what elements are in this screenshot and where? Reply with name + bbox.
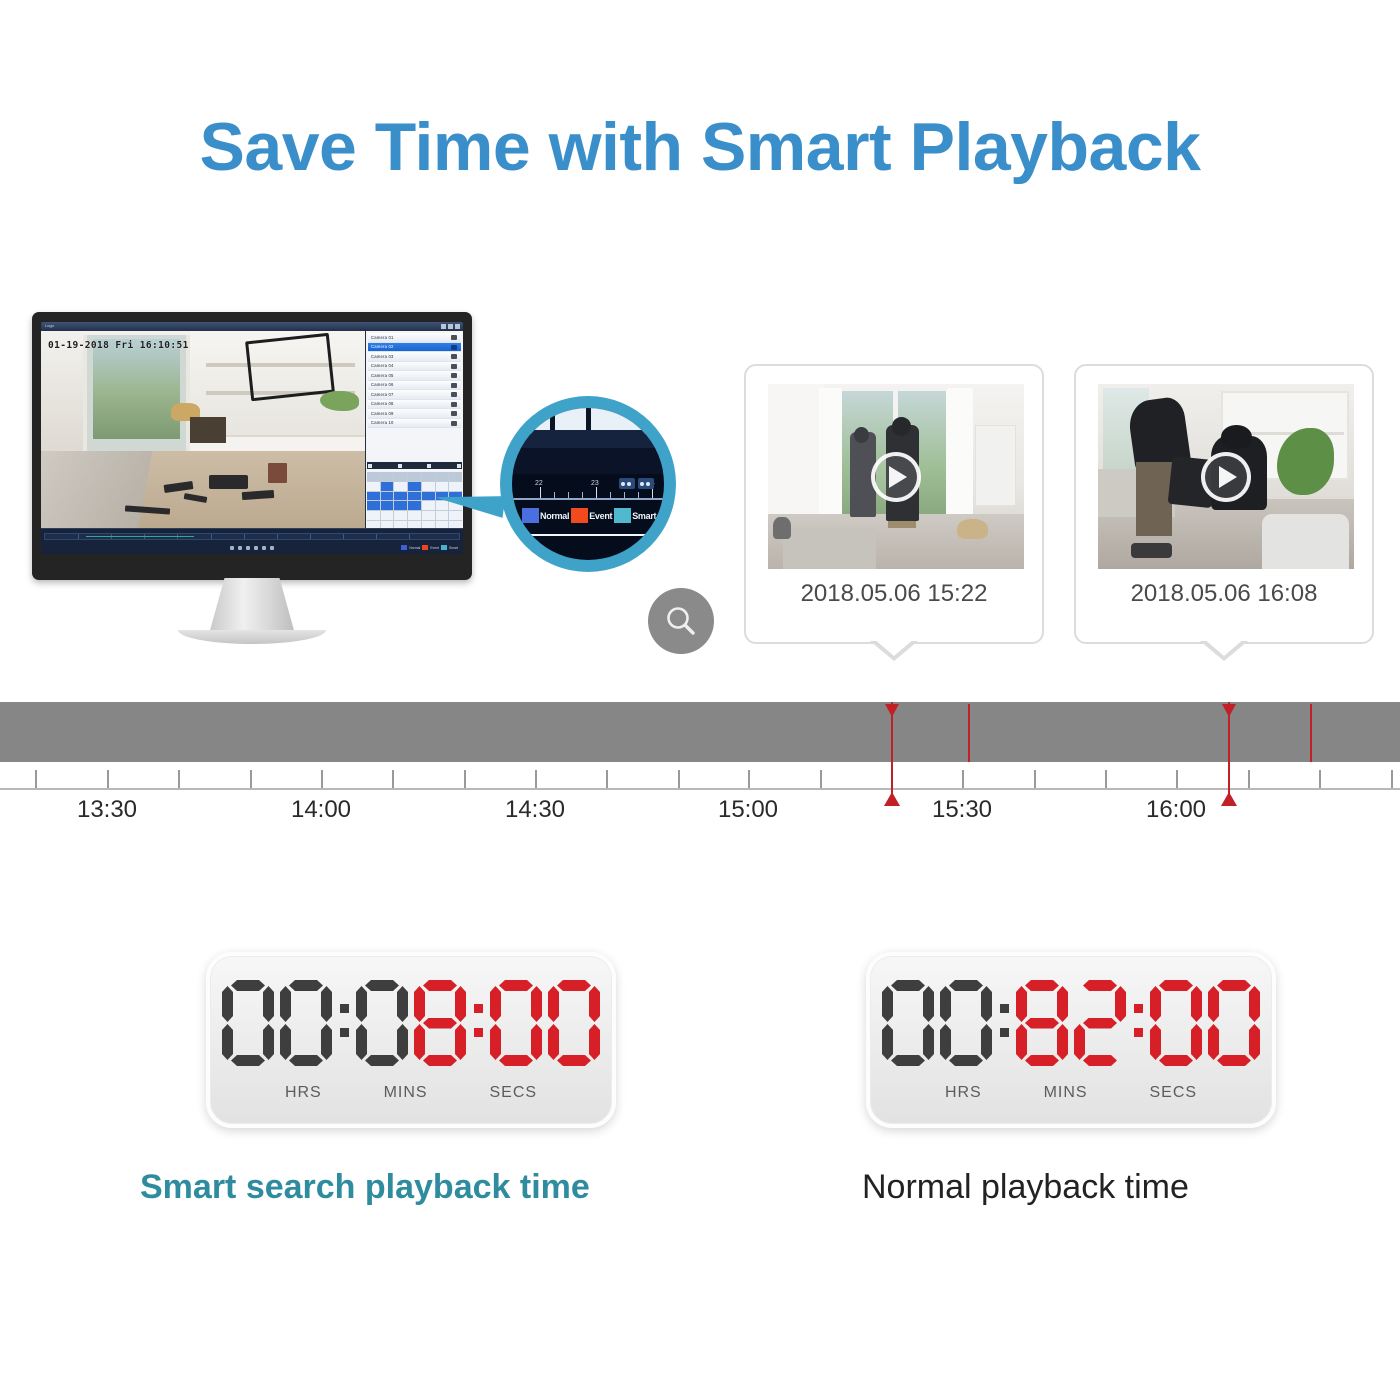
calendar-scrubber[interactable] (367, 462, 462, 469)
timeline-axis (0, 788, 1400, 790)
list-item[interactable]: Camera 02 (368, 343, 461, 353)
list-item[interactable]: Camera 08 (368, 400, 461, 410)
magnified-legend: Normal Event Smart (522, 508, 658, 523)
legend-swatch-smart (614, 508, 631, 523)
seven-segment-digit (222, 980, 274, 1066)
timeline-tick (178, 770, 180, 788)
timeline-tick (1176, 770, 1178, 788)
thumbnail-view-icon (619, 478, 635, 489)
camera-icon (451, 364, 457, 369)
dvr-timeline[interactable] (44, 533, 460, 540)
timeline-tick (1319, 770, 1321, 788)
seven-segment-digit (1208, 980, 1260, 1066)
event-thumbnail[interactable] (768, 384, 1024, 569)
camera-icon (451, 392, 457, 397)
event-tick-marker[interactable] (1310, 704, 1312, 762)
timeline-tick (464, 770, 466, 788)
list-item[interactable]: Camera 05 (368, 371, 461, 381)
timeline-legend: Normal Event Smart (401, 545, 458, 550)
seven-segment-digit (1016, 980, 1068, 1066)
monitor-screen: Logo (41, 322, 463, 554)
seven-segment-colon (336, 980, 352, 1066)
timeline-tick (392, 770, 394, 788)
timer-display (210, 974, 612, 1072)
timeline-time-label: 16:00 (1146, 796, 1206, 824)
timeline-tick (820, 770, 822, 788)
legend-swatch-smart (441, 545, 447, 550)
timeline-tick (606, 770, 608, 788)
seven-segment-digit (280, 980, 332, 1066)
recording-timeline[interactable]: 13:3014:0014:3015:0015:3016:00 (0, 702, 1400, 814)
seven-segment-digit (1074, 980, 1126, 1066)
timeline-tick (321, 770, 323, 788)
magnified-axis-line (512, 498, 664, 500)
seven-segment-digit (490, 980, 542, 1066)
page-title: Save Time with Smart Playback (0, 108, 1400, 186)
list-item[interactable]: Camera 03 (368, 352, 461, 362)
dvr-window-titlebar: Logo (41, 322, 463, 331)
monitor-stand-neck (209, 578, 295, 634)
magnified-underline (522, 534, 654, 536)
event-card[interactable]: 2018.05.06 15:22 (744, 364, 1044, 644)
monitor-stand-base (178, 630, 326, 644)
list-item[interactable]: Camera 07 (368, 390, 461, 400)
event-marker-arrow-bottom (884, 792, 900, 806)
legend-swatch-normal (522, 508, 539, 523)
camera-icon (451, 354, 457, 359)
seven-segment-digit (940, 980, 992, 1066)
timeline-tick (535, 770, 537, 788)
seven-segment-digit (548, 980, 600, 1066)
camera-icon (451, 411, 457, 416)
timeline-time-label: 13:30 (77, 796, 137, 824)
camera-icon (451, 373, 457, 378)
monitor-bezel: Logo (32, 312, 472, 580)
seven-segment-digit (414, 980, 466, 1066)
camera-icon (451, 421, 457, 426)
camera-icon (451, 383, 457, 388)
timer-unit-labels: HRS MINS SECS (870, 1084, 1272, 1102)
search-icon[interactable] (648, 588, 714, 654)
seven-segment-digit (1150, 980, 1202, 1066)
play-button[interactable] (1201, 452, 1251, 502)
legend-swatch-event (422, 545, 428, 550)
dvr-playback-toolbar: Normal Event Smart (41, 528, 463, 554)
event-card[interactable]: 2018.05.06 16:08 (1074, 364, 1374, 644)
seven-segment-colon (996, 980, 1012, 1066)
timeline-tick (748, 770, 750, 788)
list-item[interactable]: Camera 04 (368, 362, 461, 372)
video-timestamp-overlay: 01-19-2018 Fri 16:10:51 (48, 340, 189, 351)
infographic-page: Save Time with Smart Playback Logo (0, 0, 1400, 1400)
event-thumbnail[interactable] (1098, 384, 1354, 569)
timeline-tick (962, 770, 964, 788)
normal-playback-timer: HRS MINS SECS (866, 952, 1276, 1128)
channel-list[interactable]: Camera 01 Camera 02 Camera 03 Camera 04 … (366, 331, 463, 428)
magnifier-callout: 22 23 24 Normal Event Smar (494, 392, 694, 572)
timeline-tick (678, 770, 680, 788)
seven-segment-digit (882, 980, 934, 1066)
callout-tail (1200, 641, 1248, 661)
event-timestamp: 2018.05.06 16:08 (1076, 580, 1372, 608)
timeline-tick (35, 770, 37, 788)
timeline-time-label: 14:00 (291, 796, 351, 824)
camera-icon (451, 345, 457, 350)
list-item[interactable]: Camera 01 (368, 333, 461, 343)
event-marker-arrow-top (1222, 704, 1236, 717)
timeline-tick (1248, 770, 1250, 788)
timeline-time-label: 14:30 (505, 796, 565, 824)
event-marker-arrow-bottom (1221, 792, 1237, 806)
timer-display (870, 974, 1272, 1072)
list-item[interactable]: Camera 10 (368, 419, 461, 429)
play-button[interactable] (871, 452, 921, 502)
timeline-time-label: 15:00 (718, 796, 778, 824)
legend-swatch-event (571, 508, 588, 523)
camera-icon (451, 402, 457, 407)
list-item[interactable]: Camera 09 (368, 409, 461, 419)
legend-swatch-normal (401, 545, 407, 550)
smart-search-caption: Smart search playback time (140, 1168, 590, 1207)
seven-segment-colon (470, 980, 486, 1066)
event-tick-marker[interactable] (968, 704, 970, 762)
live-video-feed[interactable]: 01-19-2018 Fri 16:10:51 (41, 331, 365, 531)
playback-controls[interactable] (230, 546, 274, 550)
camera-icon (451, 335, 457, 340)
seven-segment-colon (1130, 980, 1146, 1066)
timeline-tick (1034, 770, 1036, 788)
event-marker-arrow-top (885, 704, 899, 717)
list-item[interactable]: Camera 06 (368, 381, 461, 391)
timeline-tick (250, 770, 252, 788)
callout-tail (870, 641, 918, 661)
event-timestamp: 2018.05.06 15:22 (746, 580, 1042, 608)
seven-segment-digit (356, 980, 408, 1066)
timeline-tick (1105, 770, 1107, 788)
dvr-window-title: Logo (45, 323, 54, 328)
magnified-toolbar-icons[interactable] (619, 478, 654, 489)
list-view-icon (638, 478, 654, 489)
timeline-tick (1391, 770, 1393, 788)
timeline-bar[interactable] (0, 702, 1400, 762)
timeline-tick (107, 770, 109, 788)
timeline-time-label: 15:30 (932, 796, 992, 824)
normal-playback-caption: Normal playback time (862, 1168, 1189, 1207)
magnifier-content: 22 23 24 Normal Event Smar (512, 408, 664, 560)
smart-search-playback-timer: HRS MINS SECS (206, 952, 616, 1128)
window-controls[interactable] (441, 324, 460, 329)
timer-unit-labels: HRS MINS SECS (210, 1084, 612, 1102)
monitor-illustration: Logo (32, 312, 472, 602)
